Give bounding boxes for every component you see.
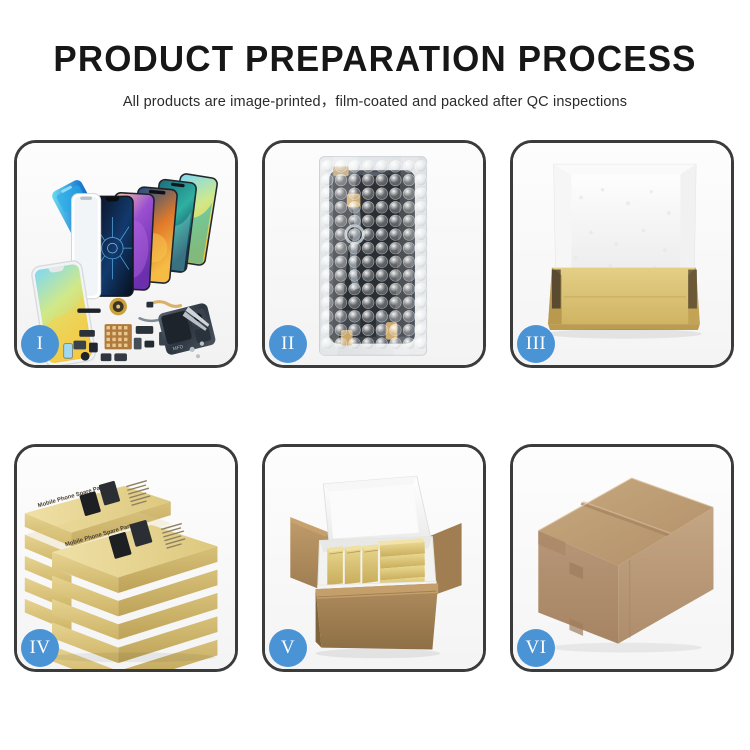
step-panel-4: Mobile Phone Spare Parts <box>14 444 238 672</box>
page-title: PRODUCT PREPARATION PROCESS <box>11 40 739 78</box>
step-panel-3: III <box>510 140 734 368</box>
step-badge-6: VI <box>517 629 555 667</box>
step-panel-2: II <box>262 140 486 368</box>
product-preparation-infographic: PRODUCT PREPARATION PROCESS All products… <box>0 0 750 750</box>
step-panel-1: MFD I <box>14 140 238 368</box>
step-panel-5: V <box>262 444 486 672</box>
step-badge-4: IV <box>21 629 59 667</box>
header: PRODUCT PREPARATION PROCESS All products… <box>0 0 750 111</box>
step-badge-3: III <box>517 325 555 363</box>
step-badge-5: V <box>269 629 307 667</box>
page-subtitle: All products are image-printed，film-coat… <box>0 90 750 111</box>
step-badge-1: I <box>21 325 59 363</box>
process-step-grid: MFD I <box>14 140 738 672</box>
step-badge-2: II <box>269 325 307 363</box>
step-panel-6: VI <box>510 444 734 672</box>
